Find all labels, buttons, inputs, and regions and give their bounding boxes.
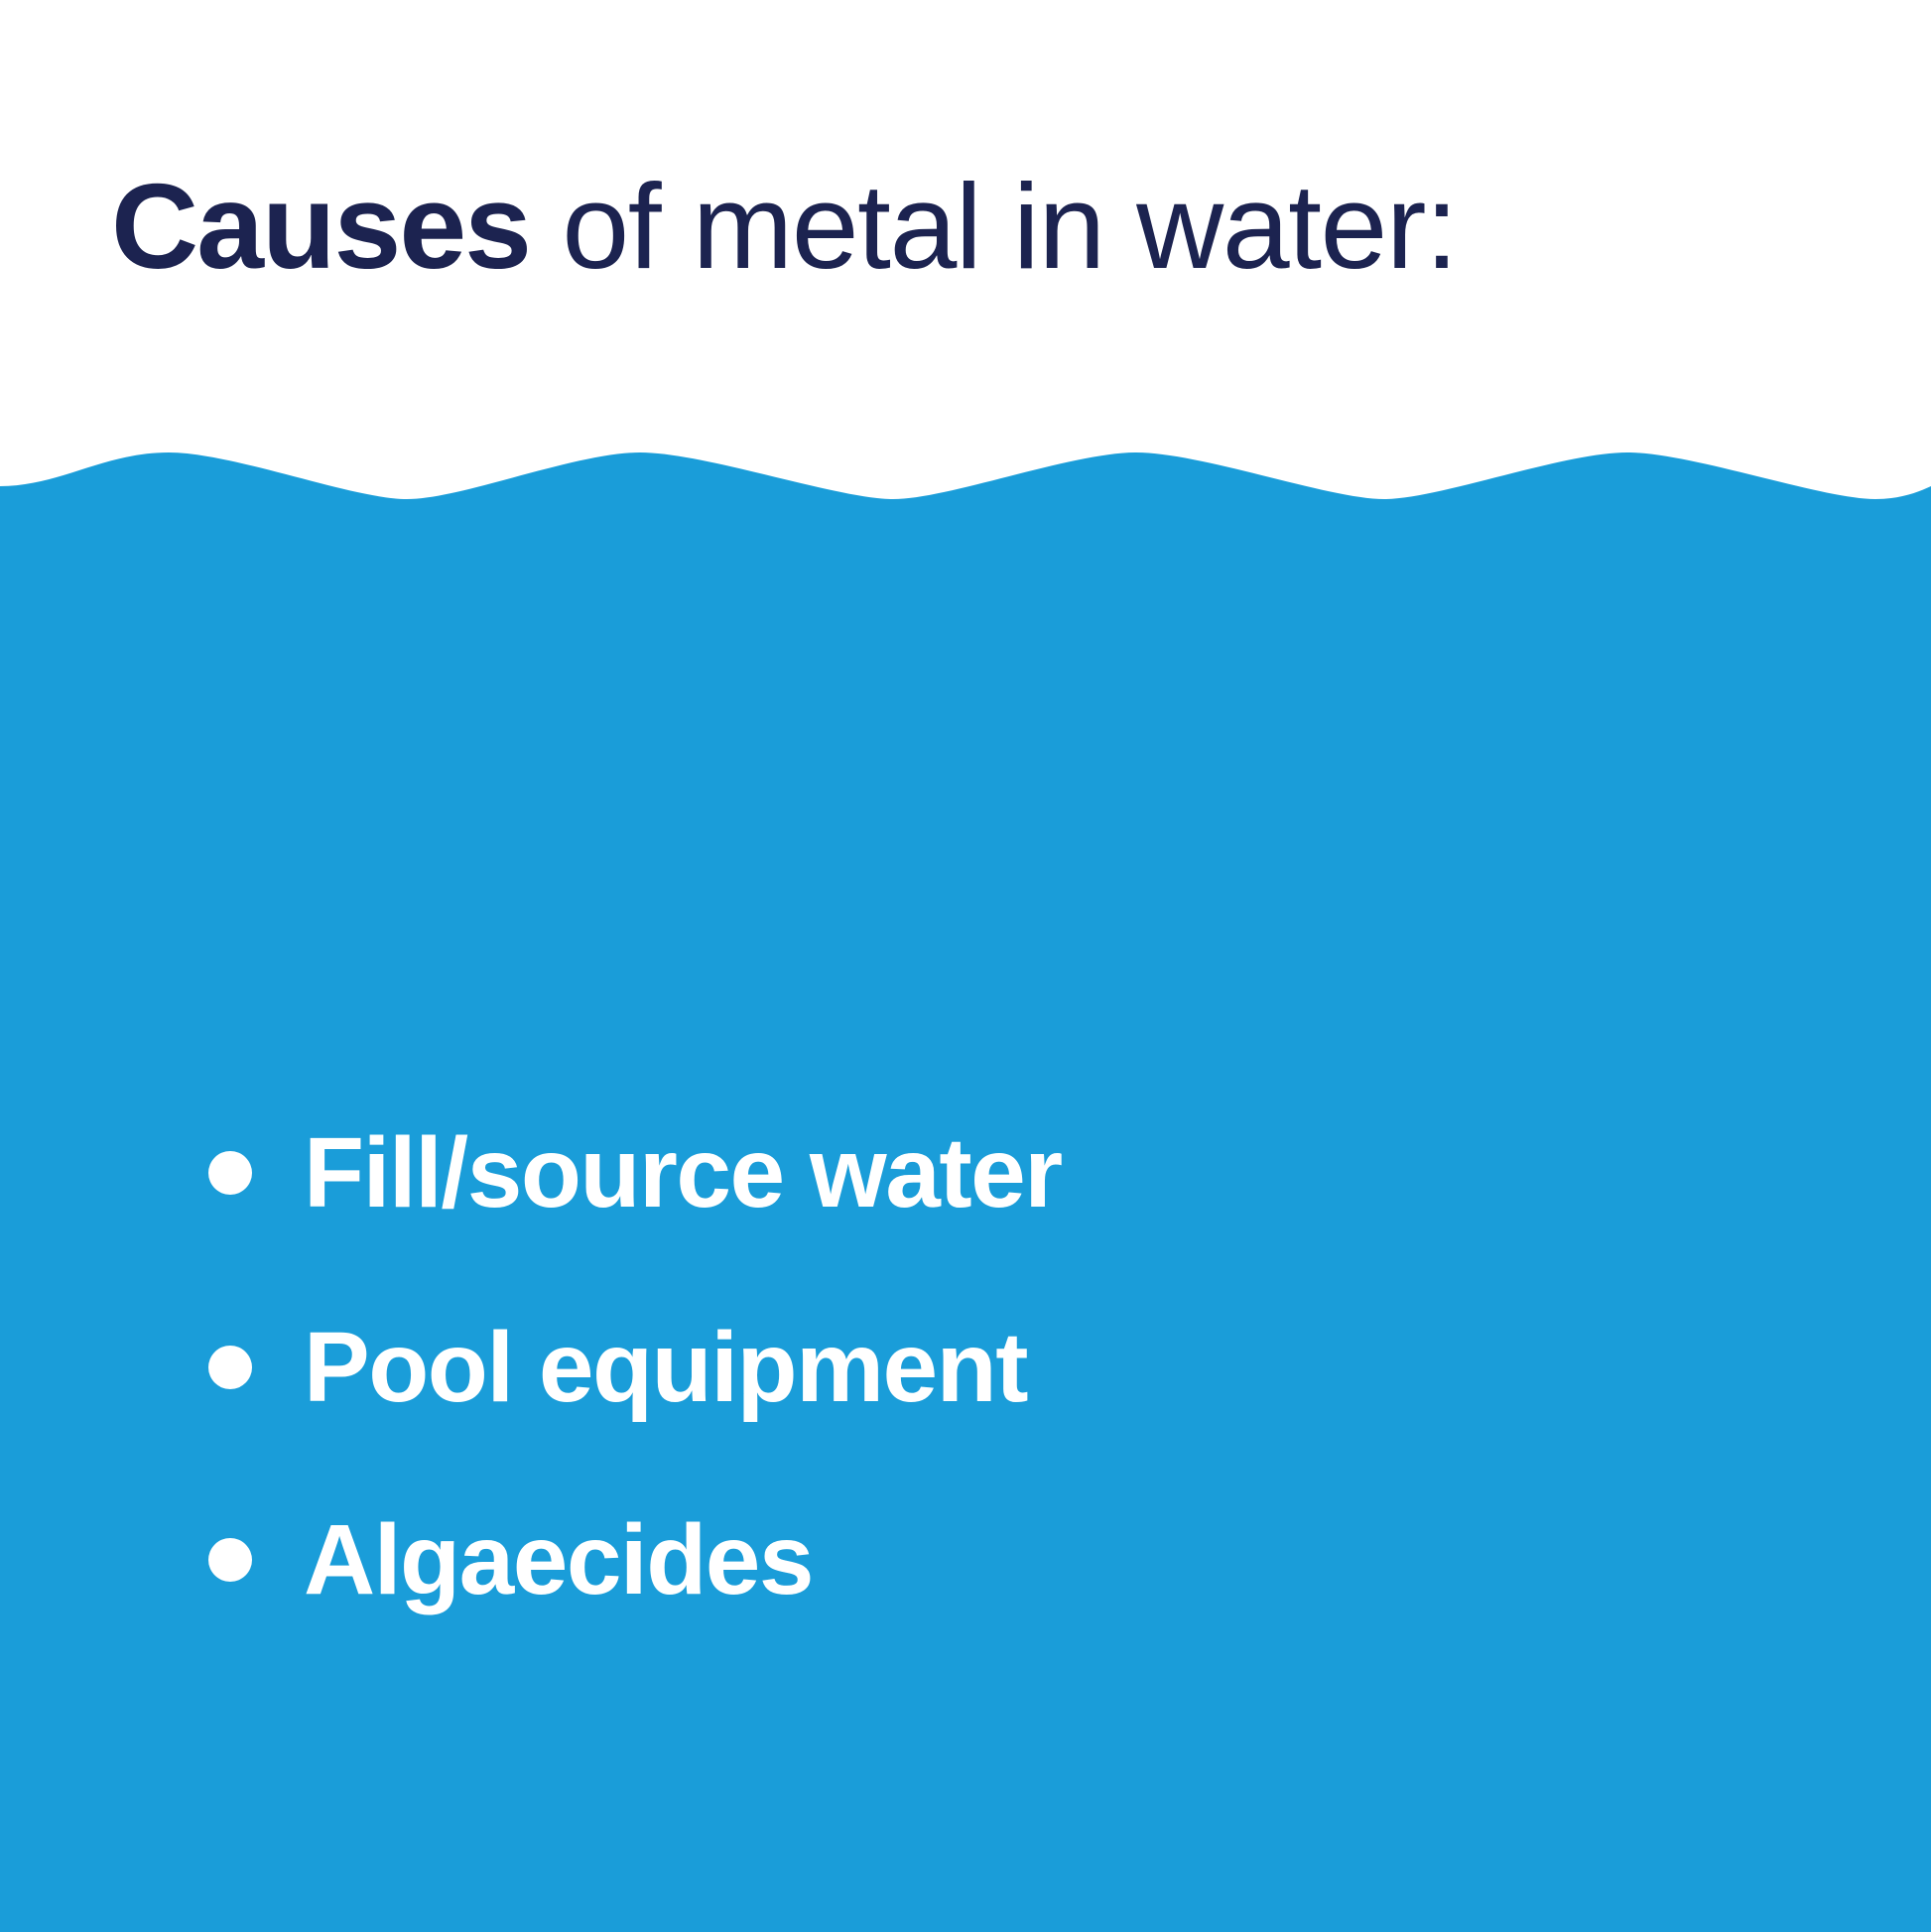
list-item: Algaecides (208, 1500, 813, 1619)
cause-label: Algaecides (304, 1500, 813, 1619)
list-item: Fill/source water (208, 1113, 1062, 1232)
bullet-dot-icon (208, 1346, 252, 1389)
metal-in-water-infographic: Causes of metal in water: Fill/source wa… (0, 0, 1931, 1932)
title-band: Causes of metal in water: (0, 0, 1931, 437)
page-title: Causes of metal in water: (111, 161, 1457, 292)
page-title-remainder: of metal in water: (530, 159, 1457, 294)
water-section: Fill/source water Pool equipment Algaeci… (0, 417, 1931, 1932)
list-item: Pool equipment (208, 1308, 1027, 1427)
cause-label: Pool equipment (304, 1308, 1027, 1427)
cause-label: Fill/source water (304, 1113, 1062, 1232)
bullet-dot-icon (208, 1151, 252, 1195)
page-title-emphasis: Causes (111, 159, 530, 294)
bullet-dot-icon (208, 1538, 252, 1582)
